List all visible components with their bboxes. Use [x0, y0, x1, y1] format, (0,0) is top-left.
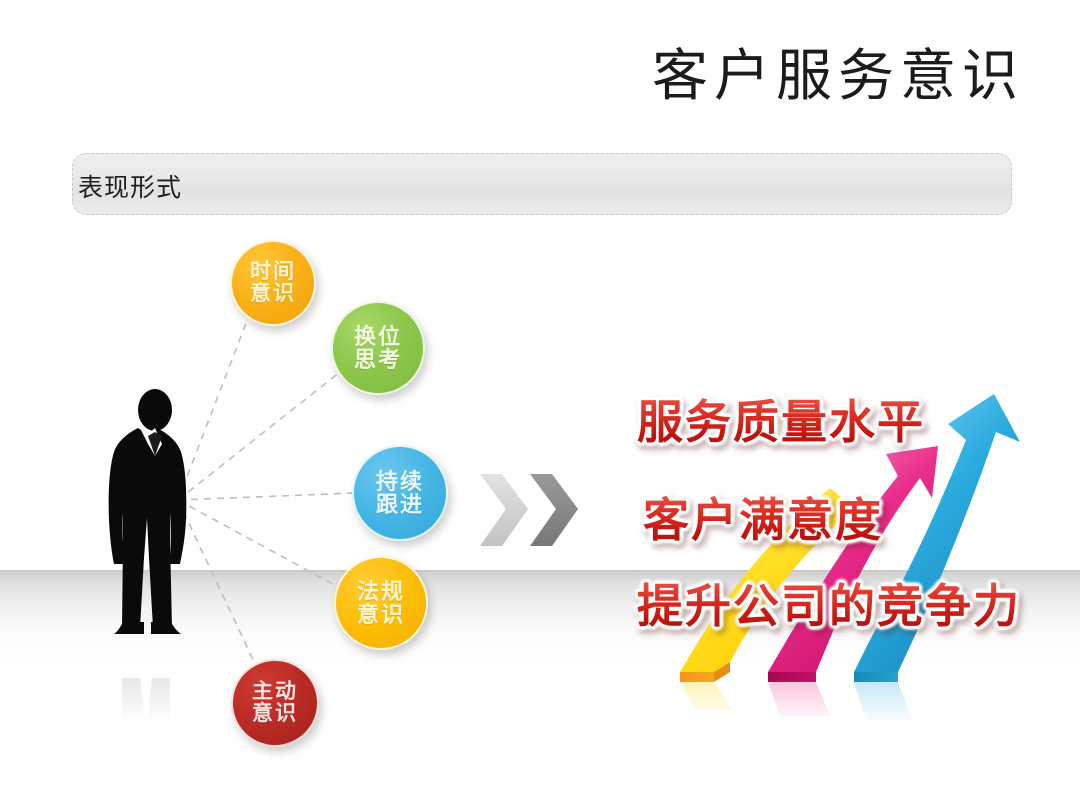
bubble-empathy[interactable]: 换位 思考	[331, 301, 425, 395]
bubble-follow-up[interactable]: 持续 跟进	[352, 445, 448, 541]
businessman-reflection	[100, 634, 210, 724]
bubble-proactive-line1: 主动	[252, 681, 298, 703]
bubble-empathy-line2: 思考	[354, 348, 402, 371]
slide-canvas: 客户服务意识 表现形式 时间 意识	[0, 0, 1080, 810]
bubble-follow-line1: 持续	[376, 470, 424, 493]
bubble-proactive-line2: 意识	[252, 703, 298, 725]
bubble-regulations[interactable]: 法规 意识	[334, 556, 428, 650]
bubble-rules-line1: 法规	[357, 580, 405, 603]
bubble-time[interactable]: 时间 意识	[230, 240, 316, 326]
bubble-time-line2: 意识	[250, 283, 296, 305]
bubble-rules-line2: 意识	[357, 603, 405, 626]
bubble-follow-line2: 跟进	[376, 493, 424, 516]
outcome-line-2: 客户满意度	[643, 484, 883, 550]
businessman-silhouette-icon	[100, 388, 210, 636]
outcome-line-1: 服务质量水平	[637, 386, 925, 452]
bubble-empathy-line1: 换位	[354, 325, 402, 348]
bubble-proactive[interactable]: 主动 意识	[231, 659, 319, 747]
outcome-line-3: 提升公司的竞争力	[637, 570, 1021, 636]
double-chevron-right-icon	[478, 468, 594, 554]
bubble-time-line1: 时间	[250, 261, 296, 283]
